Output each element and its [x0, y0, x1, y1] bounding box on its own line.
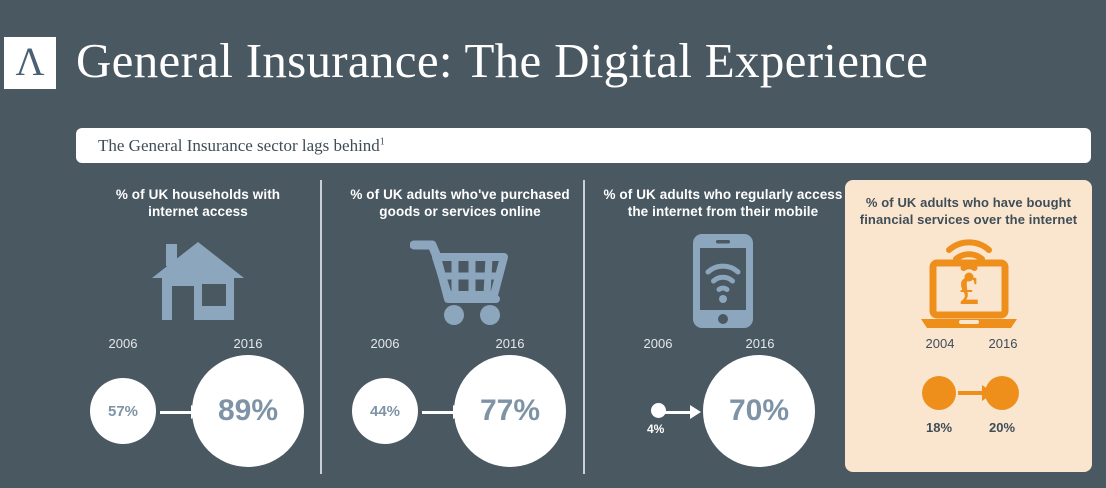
year-label-end: 2016 [213, 336, 283, 351]
value-bubble-end: 70% [703, 355, 815, 467]
panel-icon-zone [340, 226, 580, 336]
value-dot-start [651, 403, 666, 418]
panel-heading: % of UK adults who regularly access the … [603, 186, 843, 220]
value-bubble-start: 44% [352, 378, 418, 444]
panel-heading-line-2: financial services over the internet [845, 211, 1092, 228]
year-label-start: 2006 [623, 336, 693, 351]
value-label-end: 20% [972, 420, 1032, 435]
year-label-end: 2016 [725, 336, 795, 351]
laptop-pound-wifi-icon: £ [909, 230, 1029, 334]
value-bubble-end: 89% [192, 355, 304, 467]
subtitle-label: The General Insurance sector lags behind [98, 136, 380, 155]
house-icon [150, 238, 246, 324]
value-dot-end [985, 376, 1019, 410]
year-label-start: 2004 [905, 336, 975, 351]
panel-icon-zone: £ [845, 228, 1092, 336]
panel-year-labels: 2006 2016 [603, 336, 843, 358]
panel-heading: % of UK adults who've purchased goods or… [340, 186, 580, 220]
lambda-logo-icon: Λ [15, 42, 44, 82]
value-dot-start [922, 376, 956, 410]
panel-year-labels: 2006 2016 [340, 336, 580, 358]
panel-heading: % of UK adults who have bought financial… [845, 194, 1092, 228]
value-label-start: 18% [909, 420, 969, 435]
year-label-end: 2016 [475, 336, 545, 351]
panel-value-row: 4% 70% [603, 358, 843, 488]
shopping-cart-icon [410, 237, 510, 325]
value-bubble-start: 57% [90, 378, 156, 444]
trend-arrow-icon [665, 402, 701, 422]
svg-text:£: £ [959, 268, 979, 313]
mobile-wifi-icon [691, 232, 755, 330]
page-header: Λ General Insurance: The Digital Experie… [0, 0, 1106, 118]
panel-heading-line-1: % of UK adults who have bought [845, 194, 1092, 211]
panel-value-row: 18% 20% [845, 358, 1092, 448]
panel-value-row: 57% 89% [78, 358, 318, 488]
value-bubble-end: 77% [454, 355, 566, 467]
panel-heading-line-2: internet access [78, 203, 318, 220]
column-divider [583, 180, 585, 474]
panel-icon-zone [603, 226, 843, 336]
year-label-end: 2016 [968, 336, 1038, 351]
panel-year-labels: 2006 2016 [78, 336, 318, 358]
subtitle-banner: The General Insurance sector lags behind… [76, 128, 1091, 163]
year-label-start: 2006 [350, 336, 420, 351]
footnote-marker: 1 [380, 136, 385, 147]
panel-heading-line-1: % of UK adults who've purchased [340, 186, 580, 203]
column-divider [320, 180, 322, 474]
panel-heading-line-2: the internet from their mobile [603, 203, 843, 220]
panel-icon-zone [78, 226, 318, 336]
panel-heading-line-2: goods or services online [340, 203, 580, 220]
panel-heading-line-1: % of UK households with [78, 186, 318, 203]
panel-value-row: 44% 77% [340, 358, 580, 488]
stat-panel-households-internet: % of UK households with internet access … [78, 178, 318, 478]
stat-panel-purchased-online: % of UK adults who've purchased goods or… [340, 178, 580, 478]
stat-panel-mobile-internet: % of UK adults who regularly access the … [603, 178, 843, 478]
page-title: General Insurance: The Digital Experienc… [76, 30, 928, 92]
panel-heading: % of UK households with internet access [78, 186, 318, 220]
panel-year-labels: 2004 2016 [845, 336, 1092, 358]
stat-panel-financial-services-online: % of UK adults who have bought financial… [845, 180, 1092, 472]
subtitle-text: The General Insurance sector lags behind… [76, 136, 385, 156]
brand-logo: Λ [4, 37, 56, 89]
value-label-start: 4% [647, 422, 664, 436]
panel-heading-line-1: % of UK adults who regularly access [603, 186, 843, 203]
year-label-start: 2006 [88, 336, 158, 351]
